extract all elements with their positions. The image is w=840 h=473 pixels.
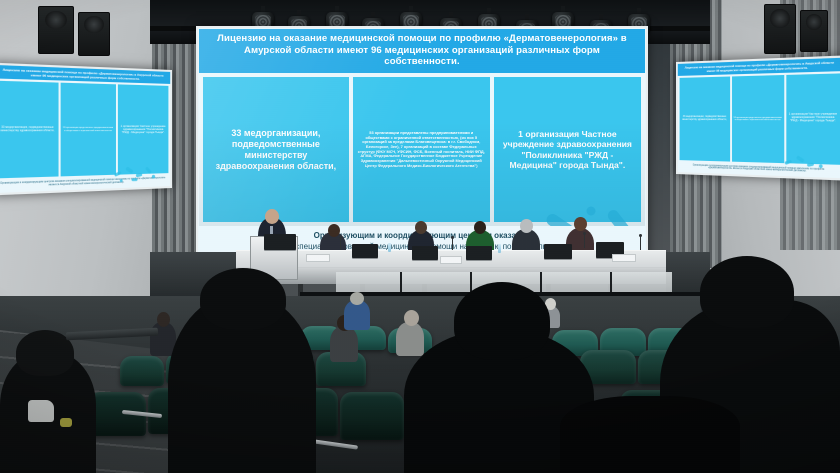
- audience-member: [396, 322, 424, 356]
- left-screen-col-1: 33 медорганизации, подведомственные мини…: [0, 81, 58, 179]
- laptop-5[interactable]: [544, 244, 572, 259]
- microphone-1: [340, 238, 341, 250]
- panelist-2-head: [415, 221, 427, 234]
- nameplate-1: [306, 254, 330, 262]
- laptop-1[interactable]: [264, 234, 296, 250]
- pill-graphic-right: [774, 139, 840, 178]
- yellow-item-on-floor: [60, 418, 72, 427]
- conference-hall-photo: Лицензию на оказание медицинской помощи …: [0, 0, 840, 473]
- foreground-person-right-head: [454, 282, 550, 360]
- nameplate-3: [612, 254, 636, 262]
- seat[interactable]: [340, 392, 404, 440]
- panelist-3-head: [474, 221, 486, 234]
- right-screen-col-1: 33 медорганизации, подведомственные мини…: [680, 77, 730, 162]
- foreground-person-far-right-head: [700, 256, 794, 328]
- water-bottle-1: [388, 243, 391, 252]
- microphone-2: [452, 238, 453, 250]
- audience-head: [157, 312, 170, 327]
- speaker-cabinet-1: [38, 6, 74, 54]
- seat[interactable]: [120, 356, 164, 386]
- water-bottle-2: [498, 244, 501, 253]
- audience-head: [350, 292, 364, 305]
- nameplate-2: [440, 256, 462, 264]
- microphone-3: [584, 234, 585, 248]
- slide-header: Лицензию на оказание медицинской помощи …: [199, 29, 645, 73]
- audience-member: [330, 326, 358, 362]
- laptop-2[interactable]: [352, 244, 378, 258]
- standing-speaker-head: [265, 209, 279, 224]
- foreground-person-center-head: [200, 268, 286, 330]
- left-side-screen: Лицензию на оказание медицинской помощи …: [0, 63, 172, 196]
- laptop-3[interactable]: [412, 246, 438, 260]
- speaker-cabinet-4: [800, 10, 828, 52]
- slide-column-2: 53 организации представлены предпринимат…: [353, 77, 490, 222]
- speaker-cabinet-3: [764, 4, 796, 54]
- panelist-5-head: [574, 217, 587, 231]
- right-side-screen: Лицензию на оказание медицинской помощи …: [676, 55, 840, 180]
- panelist-1-head: [328, 224, 340, 237]
- foreground-person-bottom-right: [560, 396, 740, 473]
- pill-graphic-left: [104, 150, 170, 189]
- microphone-4: [640, 236, 641, 250]
- laptop-4[interactable]: [466, 246, 492, 260]
- slide-column-1: 33 медорганизации, подведомственные мини…: [203, 77, 349, 222]
- audience-head: [404, 310, 419, 326]
- panelist-4-head: [520, 219, 533, 233]
- speaker-cabinet-2: [78, 12, 110, 56]
- white-bag-on-floor: [28, 400, 54, 422]
